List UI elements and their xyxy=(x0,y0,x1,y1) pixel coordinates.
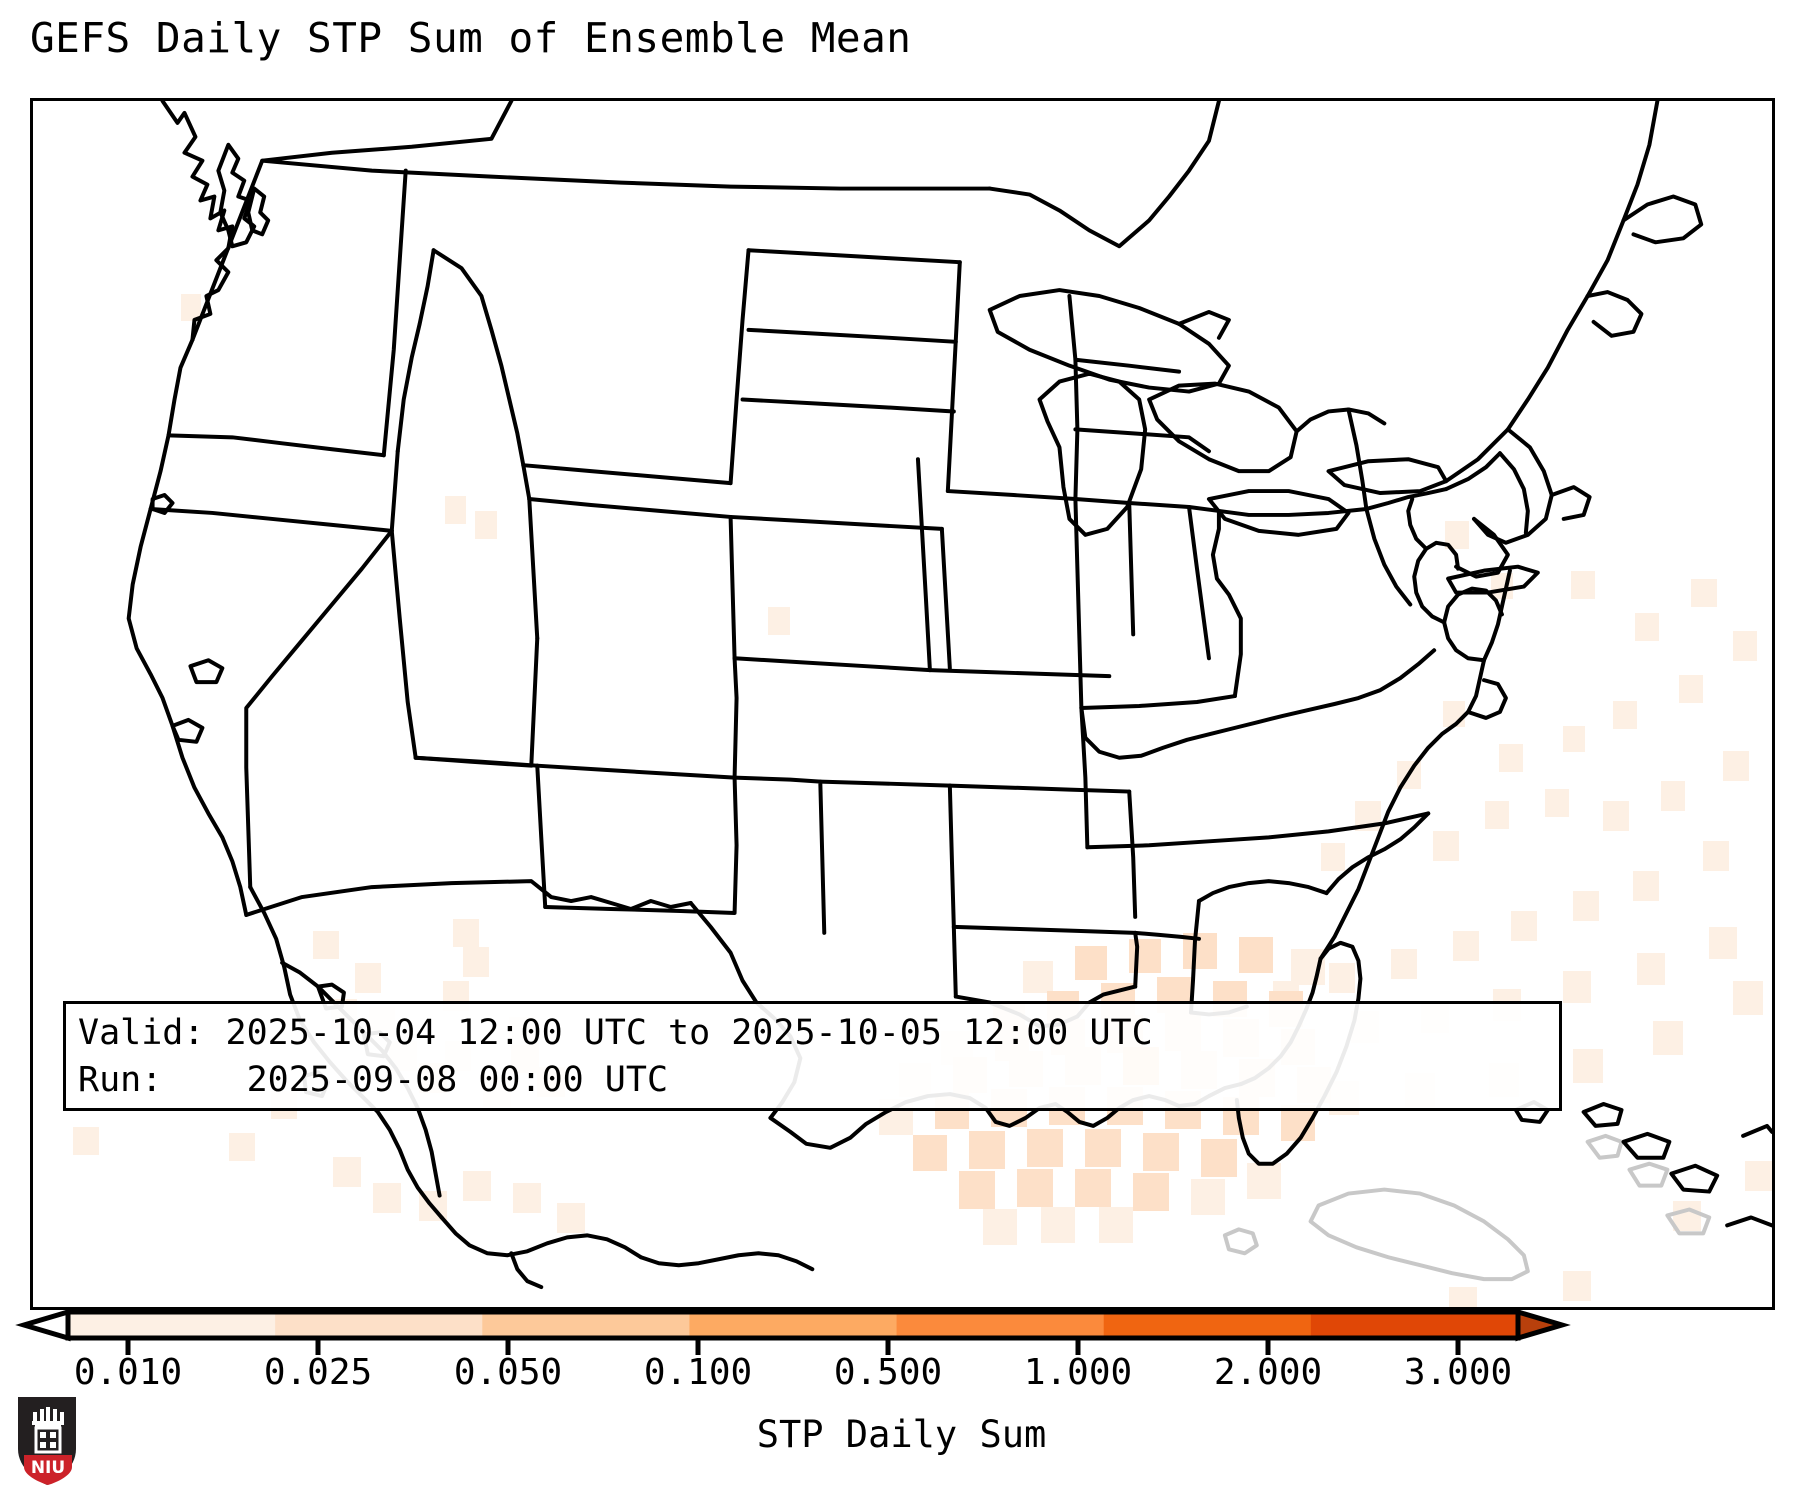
niu-logo-text: NIU xyxy=(31,1458,65,1478)
valid-time-line: Valid: 2025-10-04 12:00 UTC to 2025-10-0… xyxy=(78,1010,1547,1057)
colorbar-segments xyxy=(24,1312,1562,1338)
colorbar-tick-label: 1.000 xyxy=(1024,1352,1132,1393)
colorbar-tick-labels: 0.0100.0250.0500.1000.5001.0002.0003.000 xyxy=(0,1352,1803,1400)
page-title: GEFS Daily STP Sum of Ensemble Mean xyxy=(30,14,911,62)
colorbar-segment xyxy=(68,1312,276,1338)
niu-logo: NIU xyxy=(16,1395,78,1487)
colorbar-segment xyxy=(1311,1312,1519,1338)
colorbar-segment xyxy=(275,1312,483,1338)
colorbar-tick-label: 0.050 xyxy=(454,1352,562,1393)
stp-grid-cell xyxy=(1773,901,1775,933)
colorbar-tick-label: 0.025 xyxy=(264,1352,372,1393)
map-geography xyxy=(33,101,1772,1307)
colorbar-under-arrow xyxy=(24,1312,68,1338)
info-box: Valid: 2025-10-04 12:00 UTC to 2025-10-0… xyxy=(63,1001,1562,1111)
colorbar-tick-label: 0.500 xyxy=(834,1352,942,1393)
colorbar-axis-label: STP Daily Sum xyxy=(0,1413,1803,1456)
colorbar-tick-label: 0.100 xyxy=(644,1352,752,1393)
colorbar-tick-label: 0.010 xyxy=(74,1352,182,1393)
run-time-line: Run: 2025-09-08 00:00 UTC xyxy=(78,1057,1547,1104)
map-panel: Valid: 2025-10-04 12:00 UTC to 2025-10-0… xyxy=(30,98,1775,1310)
colorbar-segment xyxy=(689,1312,897,1338)
colorbar-tick-label: 2.000 xyxy=(1214,1352,1322,1393)
colorbar-segment xyxy=(482,1312,690,1338)
colorbar-tick-label: 3.000 xyxy=(1404,1352,1512,1393)
colorbar-segment xyxy=(897,1312,1105,1338)
colorbar-over-arrow xyxy=(1518,1312,1562,1338)
colorbar-segment xyxy=(1104,1312,1312,1338)
